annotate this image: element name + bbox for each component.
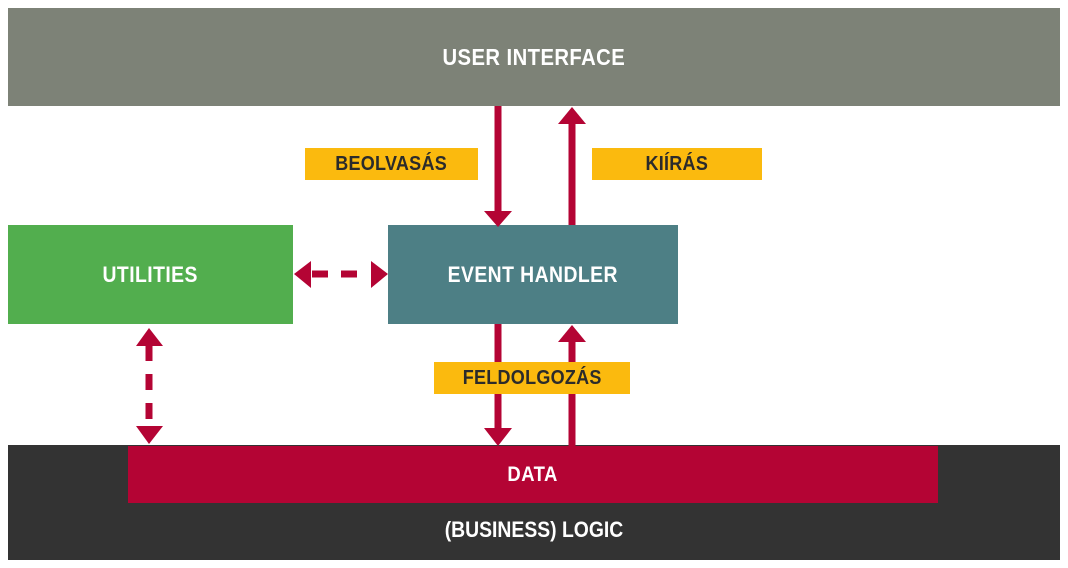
label-beolvasas-text: BEOLVASÁS <box>336 153 448 176</box>
layer-business-logic-label: (BUSINESS) LOGIC <box>71 517 997 543</box>
label-kiiras-text: KIÍRÁS <box>646 153 709 176</box>
arrow-ui-to-event-handler <box>484 106 512 227</box>
layer-utilities: UTILITIES <box>8 225 293 324</box>
layer-data-label: DATA <box>508 463 558 487</box>
layer-event-handler: EVENT HANDLER <box>388 225 678 324</box>
layer-event-handler-label: EVENT HANDLER <box>448 262 618 288</box>
layer-user-interface: USER INTERFACE <box>8 8 1060 106</box>
layer-user-interface-label: USER INTERFACE <box>443 44 626 71</box>
architecture-diagram: USER INTERFACE UTILITIES EVENT HANDLER (… <box>0 0 1068 568</box>
layer-data: DATA <box>128 446 938 503</box>
label-kiiras: KIÍRÁS <box>592 148 762 180</box>
arrow-utilities-event-handler <box>294 261 388 288</box>
layer-utilities-label: UTILITIES <box>103 262 198 288</box>
label-feldolgozas: FELDOLGOZÁS <box>434 362 630 394</box>
label-beolvasas: BEOLVASÁS <box>305 148 478 180</box>
arrow-event-handler-to-ui <box>558 107 586 225</box>
arrow-utilities-data <box>136 328 163 444</box>
label-feldolgozas-text: FELDOLGOZÁS <box>463 367 602 390</box>
